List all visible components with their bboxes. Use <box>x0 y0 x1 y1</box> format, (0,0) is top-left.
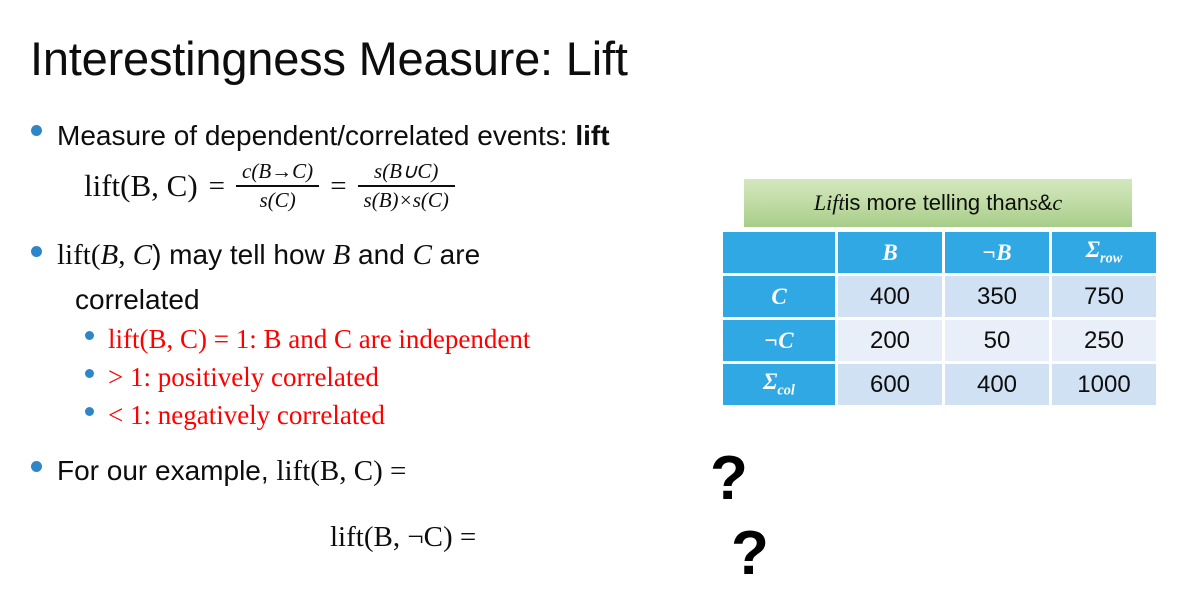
sigma-glyph: Σ <box>763 369 777 394</box>
page-title: Interestingness Measure: Lift <box>30 30 628 88</box>
table-header-sum-row: Σrow <box>1052 232 1156 273</box>
contingency-table: B ¬B Σrow C 400 350 750 ¬C 200 50 250 Σc… <box>720 229 1159 408</box>
sigma-subscript: row <box>1100 251 1122 267</box>
banner-s-word: s <box>1029 190 1038 216</box>
table-cell-c-sumrow: 750 <box>1052 276 1156 317</box>
table-row: C 400 350 750 <box>723 276 1156 317</box>
question-mark-1: ? <box>710 448 748 510</box>
fraction-1-numerator: c(B→C) <box>236 160 319 185</box>
sub-bullet-marker <box>85 331 94 340</box>
sub-bullet-2: > 1: positively correlated <box>108 362 379 392</box>
bullet-3-formula: lift(B, C) = <box>276 455 406 487</box>
lift-formula-equals-2: = <box>330 170 346 203</box>
sub-bullet-marker <box>85 369 94 378</box>
table-rowlabel-not-c: ¬C <box>723 320 835 361</box>
sigma-glyph: Σ <box>1086 237 1100 262</box>
fraction-2-denominator: s(B)×s(C) <box>358 187 455 213</box>
bullet-2-line-2: correlated <box>75 283 200 317</box>
fraction-1-denominator: s(C) <box>254 187 302 213</box>
bullet-2-var-b: B <box>101 239 119 271</box>
banner-amp: & <box>1038 190 1053 216</box>
table-cell-c-notb: 350 <box>945 276 1049 317</box>
table-cell-sumcol-notb: 400 <box>945 364 1049 405</box>
lift-formula-fraction-1: c(B→C) s(C) <box>236 160 319 212</box>
sub-bullet-marker <box>85 407 94 416</box>
sub-bullet-3: < 1: negatively correlated <box>108 400 385 430</box>
table-cell-sumcol-b: 600 <box>838 364 942 405</box>
bullet-marker <box>31 246 42 257</box>
table-cell-notc-notb: 50 <box>945 320 1049 361</box>
bullet-2-lift-open: lift( <box>57 239 101 271</box>
lift-formula: lift(B, C) = c(B→C) s(C) = s(B∪C) s(B)×s… <box>84 160 455 212</box>
sub-bullet-1: lift(B, C) = 1: B and C are independent <box>108 324 530 354</box>
sigma-subscript: col <box>777 383 794 399</box>
lift-banner: Lift is more telling than s & c <box>744 179 1132 227</box>
bullet-2-line-1: lift(B, C) may tell how B and C are <box>57 238 480 272</box>
bullet-1-text: Measure of dependent/correlated events: <box>57 120 575 151</box>
bullet-1-keyword: lift <box>575 120 609 151</box>
table-row: ¬C 200 50 250 <box>723 320 1156 361</box>
question-mark-2: ? <box>731 523 769 585</box>
table-row: Σcol 600 400 1000 <box>723 364 1156 405</box>
fraction-2-numerator: s(B∪C) <box>368 160 444 185</box>
table-corner-cell <box>723 232 835 273</box>
bullet-2-mid: ) may tell how <box>152 239 333 270</box>
table-rowlabel-c: C <box>723 276 835 317</box>
table-header-b: B <box>838 232 942 273</box>
bullet-3-prefix: For our example, <box>57 455 276 486</box>
banner-c-word: c <box>1052 190 1062 216</box>
bullet-marker <box>31 125 42 136</box>
table-cell-notc-b: 200 <box>838 320 942 361</box>
bullet-2-comma: , <box>118 239 133 271</box>
lift-formula-fraction-2: s(B∪C) s(B)×s(C) <box>358 160 455 212</box>
table-header-not-b: ¬B <box>945 232 1049 273</box>
table-cell-c-b: 400 <box>838 276 942 317</box>
bullet-3: For our example, lift(B, C) = <box>57 454 406 488</box>
table-cell-total: 1000 <box>1052 364 1156 405</box>
bullet-4-formula: lift(B, ¬C) = <box>330 521 476 554</box>
bullet-2-tail: are <box>432 239 480 270</box>
lift-formula-lhs: lift(B, C) <box>84 168 198 204</box>
table-header-row: B ¬B Σrow <box>723 232 1156 273</box>
table-rowlabel-sum-col: Σcol <box>723 364 835 405</box>
bullet-2-var-b2: B <box>333 239 351 271</box>
bullet-2-and: and <box>350 239 412 270</box>
bullet-marker <box>31 461 42 472</box>
bullet-2-var-c: C <box>133 239 152 271</box>
bullet-1: Measure of dependent/correlated events: … <box>57 119 610 153</box>
lift-formula-equals-1: = <box>209 170 225 203</box>
banner-mid-text: is more telling than <box>844 190 1029 216</box>
bullet-2-var-c2: C <box>413 239 432 271</box>
table-cell-notc-sumrow: 250 <box>1052 320 1156 361</box>
banner-lift-word: Lift <box>814 190 845 216</box>
